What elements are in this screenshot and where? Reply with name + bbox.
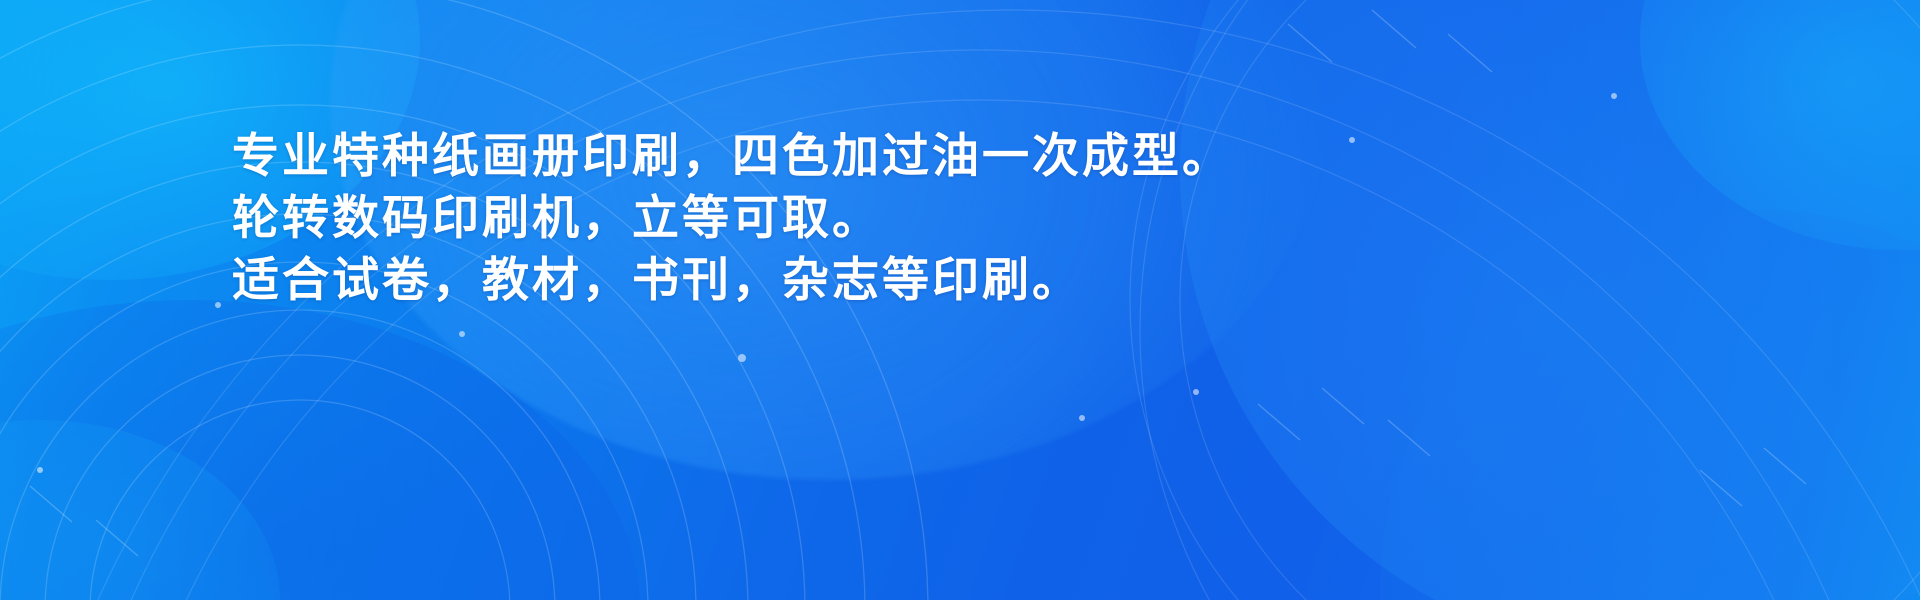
headline-line-1: 专业特种纸画册印刷，四色加过油一次成型。 (232, 126, 1732, 188)
headline-line-3: 适合试卷，教材，书刊，杂志等印刷。 (232, 250, 1732, 312)
headline-line-2: 轮转数码印刷机，立等可取。 (232, 188, 1732, 250)
promo-banner: 专业特种纸画册印刷，四色加过油一次成型。 轮转数码印刷机，立等可取。 适合试卷，… (0, 0, 1920, 600)
headline-text-block: 专业特种纸画册印刷，四色加过油一次成型。 轮转数码印刷机，立等可取。 适合试卷，… (232, 126, 1732, 312)
